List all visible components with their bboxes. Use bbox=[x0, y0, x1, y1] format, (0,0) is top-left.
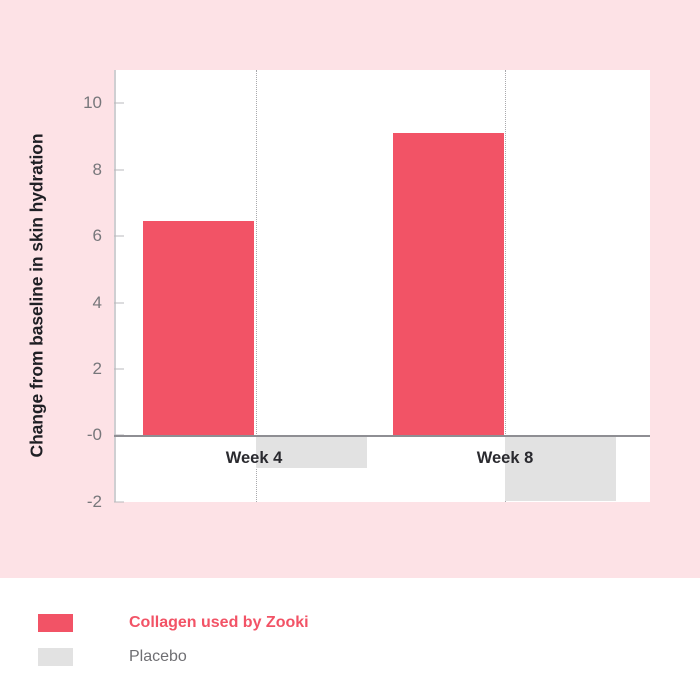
y-tick-label-0: -0 bbox=[87, 425, 102, 445]
legend-swatch-placebo bbox=[38, 648, 73, 666]
legend-swatch-collagen bbox=[38, 614, 73, 632]
group-label-week8: Week 8 bbox=[477, 449, 534, 468]
legend-item-collagen: Collagen used by Zooki bbox=[38, 614, 309, 632]
chart-figure: Change from baseline in skin hydration 1… bbox=[0, 0, 700, 700]
y-tick-label-6: 6 bbox=[93, 226, 102, 246]
y-axis-title: Change from baseline in skin hydration bbox=[27, 96, 48, 496]
chart-legend: Collagen used by Zooki Placebo bbox=[0, 578, 700, 700]
y-tick-label-minus2: -2 bbox=[87, 492, 102, 512]
y-tick-mark-4 bbox=[114, 303, 124, 304]
bar-collagen-week8 bbox=[393, 133, 504, 435]
y-tick-mark-10 bbox=[114, 103, 124, 104]
chart-panel: Change from baseline in skin hydration 1… bbox=[0, 0, 700, 578]
bar-collagen-week4 bbox=[143, 221, 254, 435]
legend-label-collagen: Collagen used by Zooki bbox=[129, 614, 309, 632]
y-tick-label-8: 8 bbox=[93, 160, 102, 180]
y-tick-mark-2 bbox=[114, 369, 124, 370]
y-tick-mark-minus2 bbox=[114, 502, 124, 503]
zero-baseline bbox=[114, 435, 650, 437]
bar-placebo-week8 bbox=[505, 435, 616, 501]
legend-label-placebo: Placebo bbox=[129, 648, 187, 666]
y-tick-label-2: 2 bbox=[93, 359, 102, 379]
y-tick-label-10: 10 bbox=[83, 93, 102, 113]
plot-area: 10 8 6 4 2 -0 -2 Week bbox=[114, 70, 650, 502]
y-tick-mark-8 bbox=[114, 170, 124, 171]
group-label-week4: Week 4 bbox=[226, 449, 283, 468]
y-tick-mark-6 bbox=[114, 236, 124, 237]
y-tick-label-4: 4 bbox=[93, 293, 102, 313]
y-axis-spine bbox=[114, 70, 116, 502]
legend-item-placebo: Placebo bbox=[38, 648, 187, 666]
